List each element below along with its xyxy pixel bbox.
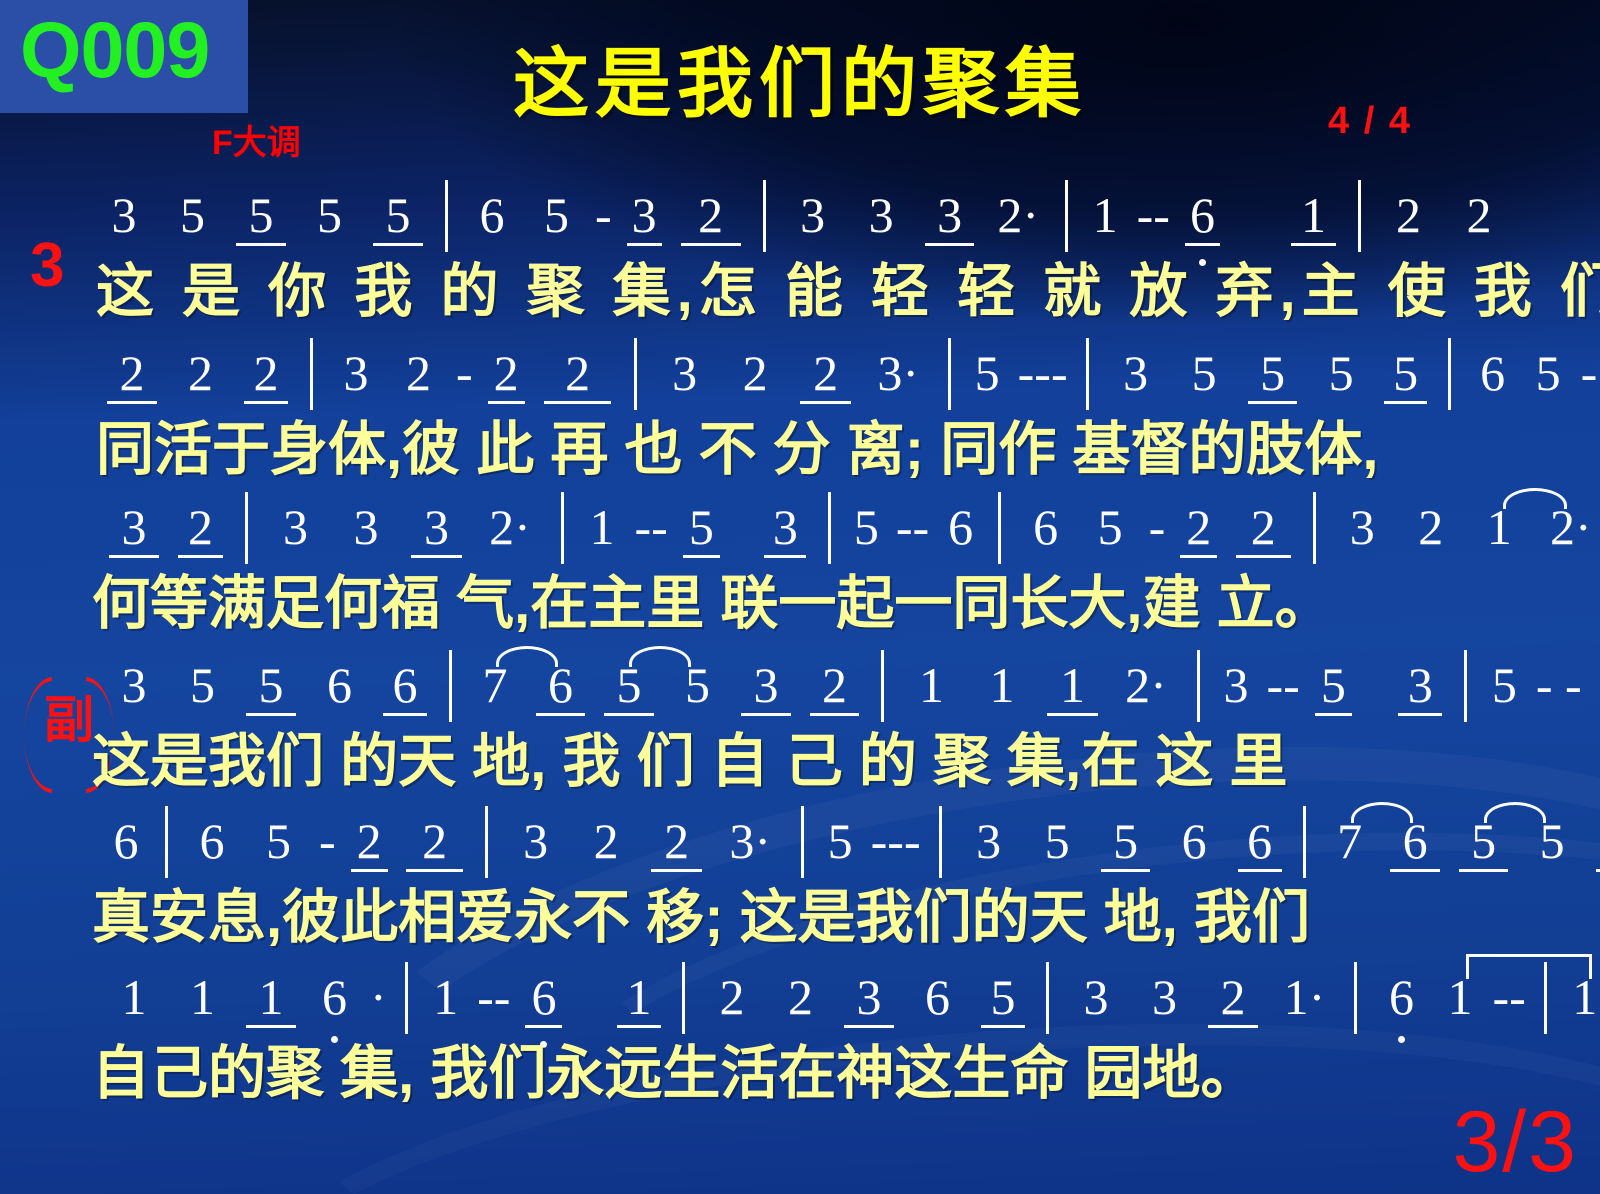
note: 3 [922,186,978,244]
note: 5 [370,186,426,244]
lyric-line-2: 同活于身体,彼 此 再 也 不 分 离; 同作 基督的肢体, [0,402,1600,474]
hold-dash: -- [1267,656,1300,714]
note: 2 [175,498,227,556]
hold-dash: -- [896,498,929,556]
note: 5 [165,186,221,244]
note: 3 [408,498,466,556]
bar-line [165,806,168,878]
note: 3 [1334,498,1390,556]
note: 2 [540,344,616,402]
hold-dash: - [456,344,473,402]
song-slide: Q009 F大调 这是我们的聚集 4 / 4 3/3 3 副 3 5 5 5 5… [0,0,1600,1194]
note: 6 [909,968,965,1026]
note: 2 [1178,498,1220,556]
bar-line [1358,180,1361,252]
notation-line-6: 1 1 1 6 · 1 -- 6 1 2 2 3 6 5 3 3 2 1· 6 … [0,962,1600,1026]
note: 6 [1470,344,1516,402]
note: 3 [1068,968,1124,1026]
note: 6 [523,968,565,1026]
note: 1 [1440,968,1480,1026]
bar-line [1065,180,1068,252]
note: 2 [241,344,291,402]
hold-dash: - [595,186,612,244]
note: 2 [104,344,160,402]
bar-line [1354,962,1357,1034]
music-system-1: 3 5 5 5 5 6 5 - 3 2 3 3 3 2· 1 -- 6 1 2 … [0,180,1600,316]
note: 5 [1524,812,1580,870]
note: 6 [1182,186,1222,244]
note: 7 [1325,812,1375,870]
hold-dash: - [319,812,336,870]
note: 2 [677,186,745,244]
note: 3 [96,186,152,244]
note: 1 [1566,968,1600,1026]
note: 1 [903,656,961,714]
note: 3 [853,186,909,244]
page-number: 3/3 [1452,1093,1578,1192]
hold-dash: - - [1536,656,1582,714]
note: 3 [106,498,162,556]
note: 6 [942,498,980,556]
note: 2 [403,812,467,870]
note: 3· [867,344,929,402]
bar-line [939,806,942,878]
note: 2 [1403,498,1459,556]
note: 5 [243,656,299,714]
notation-line-5: 6 6 5 - 2 2 3 2 2 3· 5 --- 3 5 5 6 6 7 6… [0,806,1600,870]
bar-line [1448,338,1451,410]
note: 1 [1086,186,1124,244]
note: 2 [807,656,863,714]
note: 5 [978,968,1028,1026]
note: 3 [761,498,809,556]
note: 6 [106,812,146,870]
note: 3 [106,656,162,714]
bar-line [1197,650,1200,722]
note: 6 [466,186,518,244]
music-system-2: 2 2 2 3 2 - 2 2 3 2 2 3· 5 --- 3 5 5 5 5… [0,338,1600,474]
note: 5 [251,812,307,870]
note: 1 [106,968,162,1026]
bar-line [445,180,448,252]
note: 5 [670,656,726,714]
note: 3 [1218,656,1254,714]
augmentation-dot: · [1575,498,1592,556]
augmentation-dot: · [1022,186,1039,244]
note: 3 [841,968,897,1026]
augmentation-dot: · [1150,656,1167,714]
bar-line [634,338,637,410]
note: 2 [648,812,706,870]
note: 6 [1166,812,1222,870]
bar-line [1313,492,1316,564]
note: 5 [1245,344,1301,402]
note: 5 [531,186,583,244]
augmentation-dot: · [754,812,771,870]
note: 6 [312,656,368,714]
hold-dash: -- [1137,186,1170,244]
hold-dash: --- [1018,344,1068,402]
note: 6 [533,656,589,714]
note: 2 [394,344,444,402]
note: 5 [1382,344,1430,402]
time-signature: 4 / 4 [1328,100,1412,143]
bar-line [1303,806,1306,878]
bar-line [449,650,452,722]
note: 3 [738,656,794,714]
augmentation-dot: · [1309,968,1326,1026]
note: 2 [485,344,527,402]
bar-line [310,338,313,410]
note: 2· [1114,656,1178,714]
note: 2 [348,812,390,870]
note: 6 [186,812,238,870]
music-system-6: 1 1 1 6 · 1 -- 6 1 2 2 3 6 5 3 3 2 1· 6 … [0,962,1600,1098]
note: 2 [1379,186,1437,244]
note: 3 [961,812,1017,870]
lyric-line-1: 这 是 你 我 的 聚 集,怎 能 轻 轻 就 放 弃,主 使 我 们 [0,244,1600,316]
hold-dash: --- [871,812,921,870]
music-system-5: 6 6 5 - 2 2 3 2 2 3· 5 --- 3 5 5 6 6 7 6… [0,806,1600,942]
note: 6 [380,656,430,714]
note: 5 [1084,498,1136,556]
augmentation-dot: · [370,968,387,1026]
note: 2 [173,344,229,402]
note: 1 [175,968,231,1026]
hold-dash: - [1581,344,1598,402]
music-system-4: 3 5 5 6 6 7 6 5 5 3 2 1 1 1 2· 3 -- 5 3 … [0,650,1600,786]
bar-line [1086,338,1089,410]
note: 3 [624,186,664,244]
bar-line [485,806,488,878]
note: 2 [704,968,760,1026]
note: 2 [1205,968,1261,1026]
bar-line [682,962,685,1034]
lyric-line-5: 真安息,彼此相爱永不 移; 这是我们的天 地, 我们 [0,870,1600,942]
note: 3 [785,186,841,244]
note: 2 [1232,498,1294,556]
note: 5 [1312,656,1354,714]
notation-line-2: 2 2 2 3 2 - 2 2 3 2 2 3· 5 --- 3 5 5 5 5… [0,338,1600,402]
lyric-line-3: 何等满足何福 气,在主里 联一起一同长大,建 立。 [0,556,1600,628]
hold-dash: - [1149,498,1166,556]
lyric-line-4: 这是我们 的天 地, 我 们 自 己 的 聚 集,在 这 里 [0,714,1600,786]
note: 1· [1273,968,1335,1026]
note: 5 [601,656,657,714]
bar-line [1046,962,1049,1034]
note: 5 [1029,812,1085,870]
music-system-3: 3 2 3 3 3 2· 1 -- 5 3 5 -- 6 6 5 - 2 2 3… [0,492,1600,628]
bar-line [1464,650,1467,722]
note: 1 [614,968,664,1026]
bar-line [405,962,408,1034]
note: 5 [1456,812,1512,870]
note: 6 [312,968,358,1026]
note: 3 [1593,812,1600,870]
note: 5 [969,344,1005,402]
bar-line [948,338,951,410]
note: 1 [1044,656,1102,714]
note: 6 [1375,968,1427,1026]
bar-line [561,492,564,564]
note: 3 [337,498,395,556]
note: 3 [331,344,381,402]
bar-line [801,806,804,878]
note: 2 [772,968,828,1026]
note: 3 [267,498,325,556]
augmentation-dot: · [514,498,531,556]
note: 3· [718,812,782,870]
note: 2 [577,812,635,870]
note: 5 [175,656,231,714]
bar-line [763,180,766,252]
notation-line-4: 3 5 5 6 6 7 6 5 5 3 2 1 1 1 2· 3 -- 5 3 … [0,650,1600,714]
note: 5 [302,186,358,244]
hold-dash: -- [635,498,668,556]
notation-line-1: 3 5 5 5 5 6 5 - 3 2 3 3 3 2· 1 -- 6 1 2 … [0,180,1600,244]
note: 2· [1540,498,1600,556]
note: 1 [1287,186,1339,244]
hold-dash: -- [477,968,510,1026]
note: 1 [582,498,622,556]
note: 1 [1471,498,1527,556]
note: 3 [1108,344,1164,402]
note: 3 [1136,968,1192,1026]
note: 2 [1450,186,1508,244]
note: 2 [797,344,855,402]
note: 5 [1528,344,1568,402]
lyric-line-6: 自己的聚 集, 我们永远生活在神这生命 园地。 [0,1026,1600,1098]
note: 5 [1176,344,1232,402]
note: 2 [726,344,784,402]
note: 6 [1235,812,1285,870]
bar-line [998,492,1001,564]
note: 3 [507,812,565,870]
bar-line [881,650,884,722]
bar-line [245,492,248,564]
note: 1 [243,968,299,1026]
note: 5 [1098,812,1154,870]
bar-line [828,492,831,564]
note: 1 [973,656,1031,714]
note: 2· [478,498,542,556]
notation-line-3: 3 2 3 3 3 2· 1 -- 5 3 5 -- 6 6 5 - 2 2 3… [0,492,1600,556]
note: 3 [656,344,714,402]
note: 5 [233,186,289,244]
note: 5 [1485,656,1523,714]
note: 5 [680,498,722,556]
note: 5 [849,498,883,556]
note: 6 [1387,812,1443,870]
note: 6 [1020,498,1072,556]
note: 5 [1313,344,1369,402]
note: 2· [990,186,1046,244]
note: 3 [1395,656,1445,714]
note: 7 [470,656,520,714]
note: 5 [822,812,858,870]
note: 1 [427,968,465,1026]
augmentation-dot: · [902,344,919,402]
